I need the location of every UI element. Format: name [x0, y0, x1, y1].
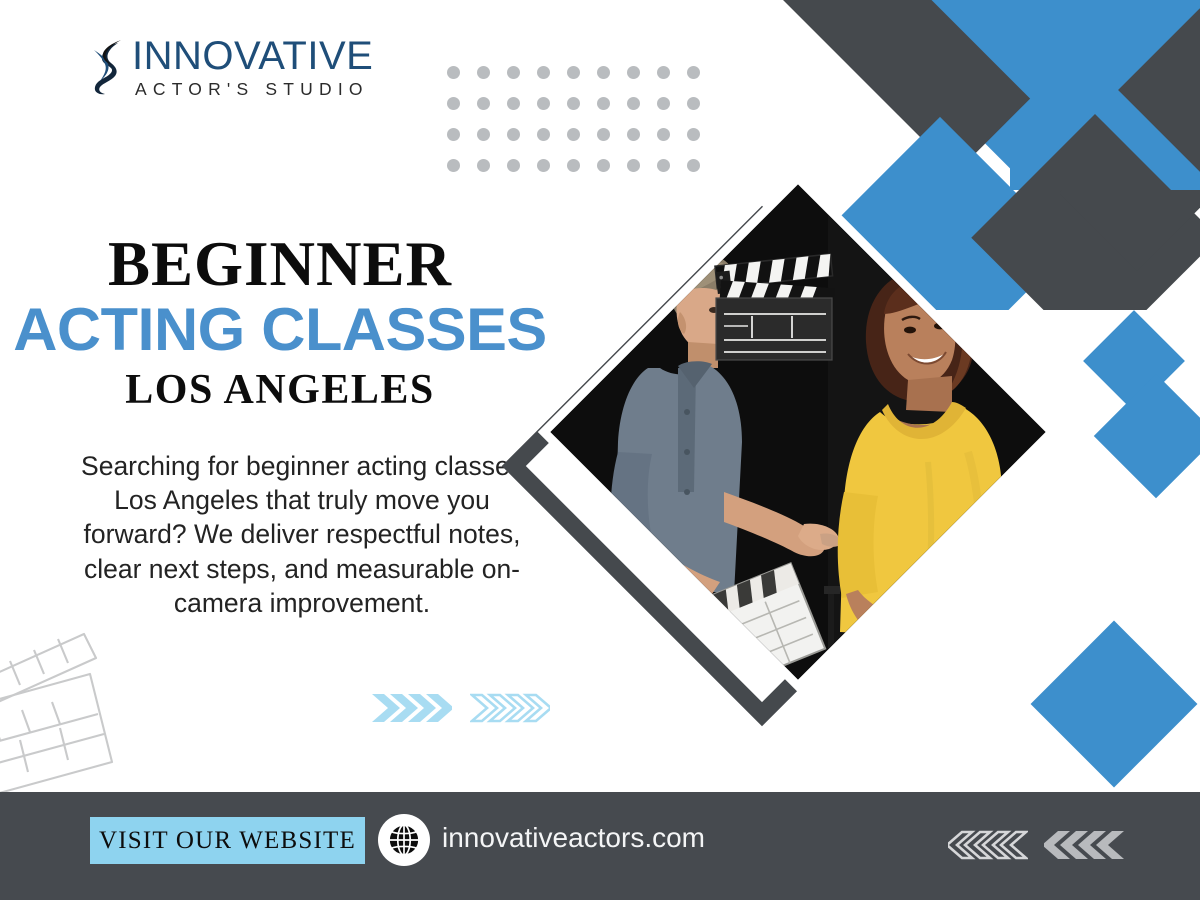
- cta-label: VISIT OUR WEBSITE: [99, 827, 356, 855]
- website-url[interactable]: innovativeactors.com: [442, 822, 705, 854]
- chevron-left-filled-icon: [1044, 825, 1124, 865]
- logo-title: INNOVATIVE: [132, 36, 373, 76]
- headline-line-2: ACTING CLASSES: [0, 298, 566, 361]
- swirl-figure-icon: [88, 38, 128, 96]
- brand-logo[interactable]: INNOVATIVE ACTOR'S STUDIO: [88, 36, 373, 99]
- chevron-footer-group: [948, 825, 1124, 865]
- dot-grid-decoration: [447, 66, 717, 190]
- headline-line-1: BEGINNER: [0, 232, 560, 296]
- visit-website-button[interactable]: VISIT OUR WEBSITE: [90, 817, 365, 864]
- body-paragraph: Searching for beginner acting classes Lo…: [62, 449, 542, 621]
- blue-diamond-medium: [1090, 370, 1200, 500]
- headline-block: BEGINNER ACTING CLASSES LOS ANGELES: [0, 232, 560, 413]
- chevron-right-outline-icon: [470, 688, 550, 728]
- clapperboard-icon: [694, 248, 844, 366]
- chevron-right-filled-icon: [372, 688, 452, 728]
- chevron-left-outline-icon: [948, 825, 1028, 865]
- poster-canvas: INNOVATIVE ACTOR'S STUDIO BEGINNER ACTIN…: [0, 0, 1200, 900]
- headline-line-3: LOS ANGELES: [0, 367, 560, 413]
- clapperboard-outline-icon: [0, 612, 142, 797]
- chevron-accent-group: [372, 688, 550, 728]
- logo-subtitle: ACTOR'S STUDIO: [132, 81, 373, 99]
- globe-icon: [378, 814, 430, 866]
